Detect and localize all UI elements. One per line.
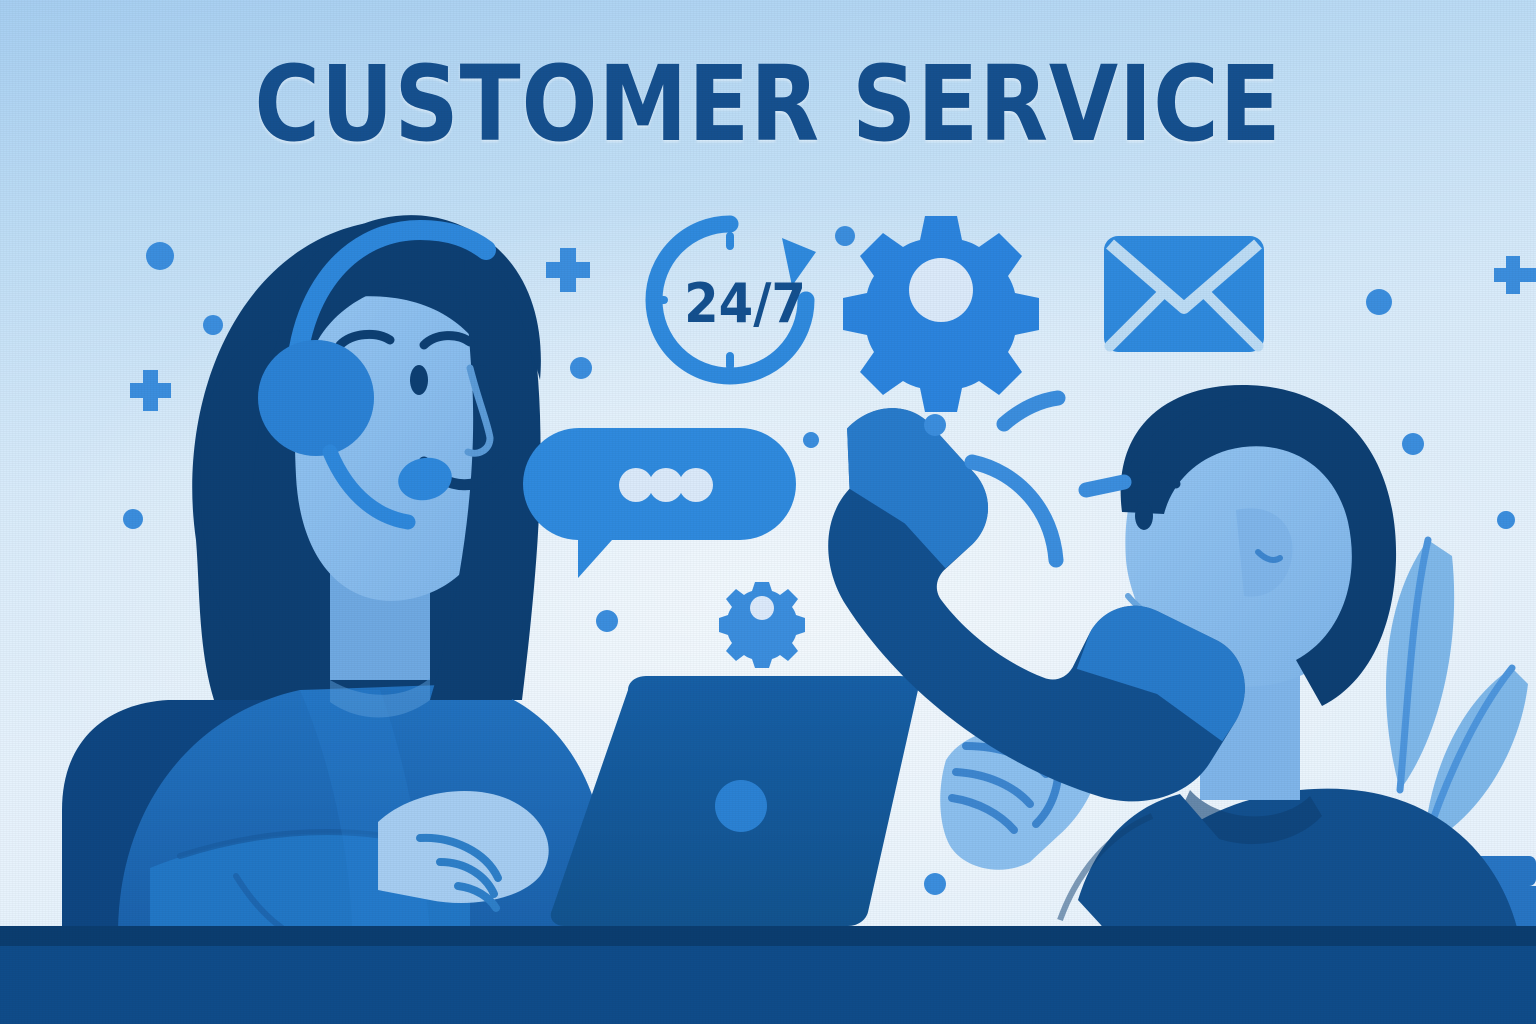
sound-wave-icon bbox=[972, 398, 1124, 560]
support-agent bbox=[118, 215, 606, 930]
page-title: CUSTOMER SERVICE bbox=[108, 52, 1429, 156]
gear-icon bbox=[843, 216, 1039, 412]
laptop-logo bbox=[715, 780, 767, 832]
small-gear-icon bbox=[719, 582, 805, 668]
clock-247-label: 24/7 bbox=[671, 272, 818, 335]
chat-bubble-icon bbox=[523, 428, 796, 578]
desk bbox=[0, 926, 1536, 1024]
illustration-canvas: CUSTOMER SERVICE 24/7 bbox=[0, 0, 1536, 1024]
laptop bbox=[551, 676, 918, 926]
envelope-icon bbox=[1104, 236, 1264, 352]
